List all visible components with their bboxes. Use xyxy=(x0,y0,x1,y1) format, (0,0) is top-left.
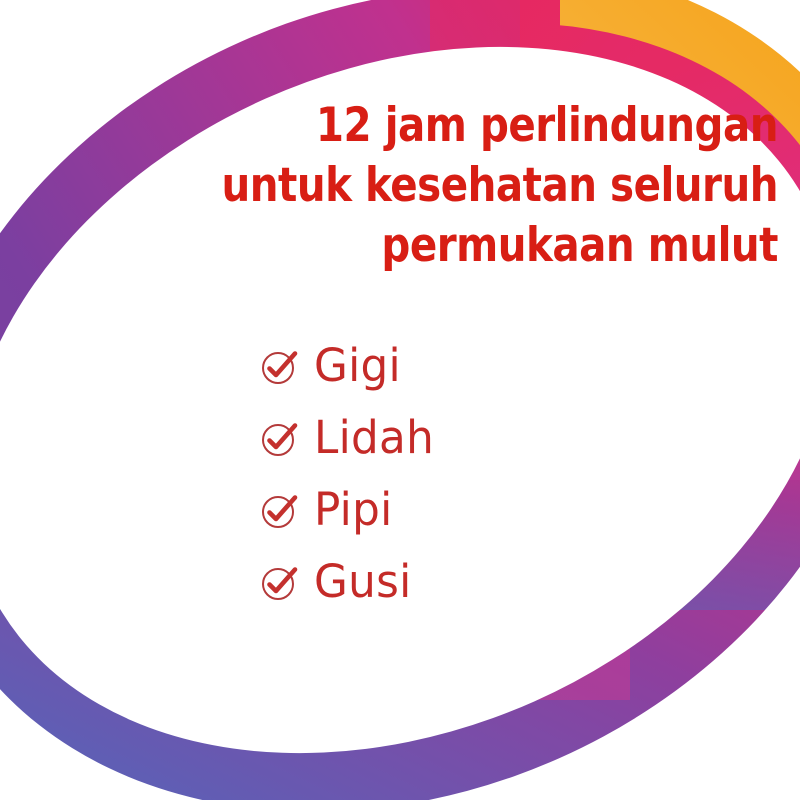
list-item: Gusi xyxy=(258,546,678,618)
circle-check-icon xyxy=(258,560,302,604)
list-item: Gigi xyxy=(258,330,678,402)
headline-line-3: permukaan mulut xyxy=(143,216,778,276)
circle-check-icon xyxy=(258,416,302,460)
list-item: Pipi xyxy=(258,474,678,546)
list-item-label: Pipi xyxy=(314,486,392,534)
circle-check-icon xyxy=(258,488,302,532)
headline: 12 jam perlindungan untuk kesehatan selu… xyxy=(143,96,778,276)
list-item-label: Lidah xyxy=(314,414,434,462)
list-item: Lidah xyxy=(258,402,678,474)
list-item-label: Gusi xyxy=(314,558,412,606)
list-item-label: Gigi xyxy=(314,342,401,390)
promo-poster: 12 jam perlindungan untuk kesehatan selu… xyxy=(0,0,800,800)
headline-line-1: 12 jam perlindungan xyxy=(143,96,778,156)
circle-check-icon xyxy=(258,344,302,388)
benefit-list: Gigi Lidah Pipi Gusi xyxy=(258,330,678,618)
headline-line-2: untuk kesehatan seluruh xyxy=(143,156,778,216)
